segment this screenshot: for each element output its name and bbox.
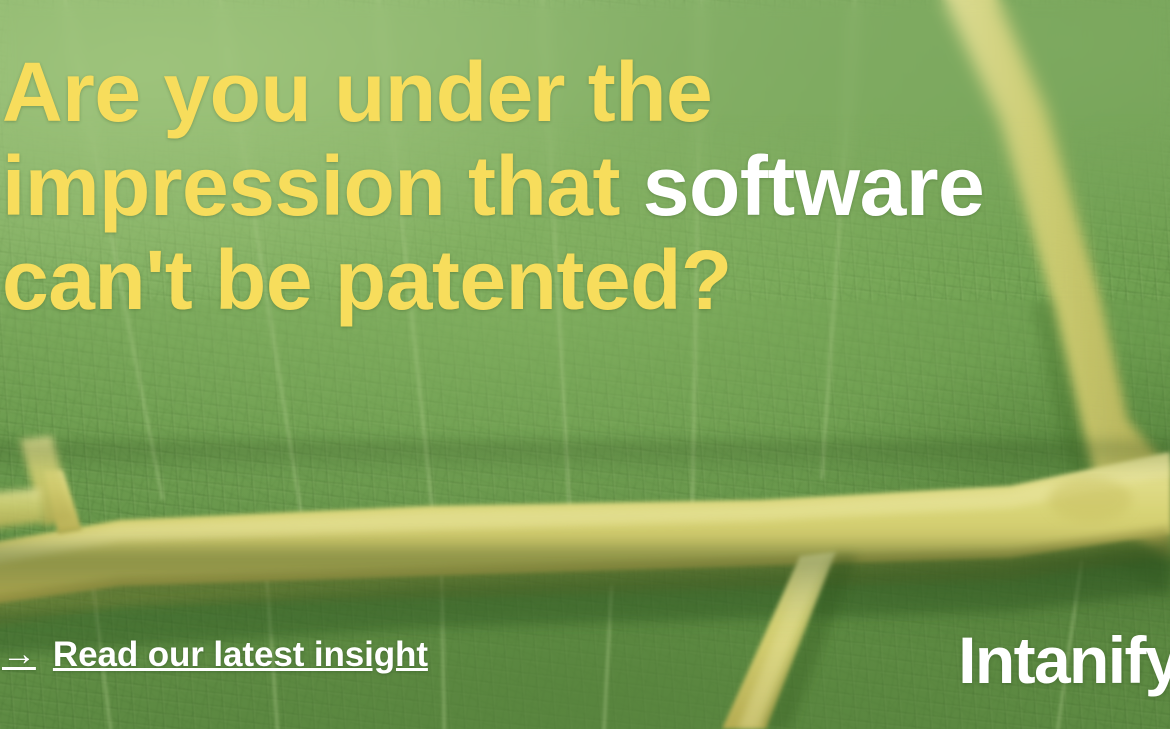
social-card: Are you under the impression that softwa… — [0, 0, 1170, 729]
headline-line-2-prefix: impression that — [2, 139, 643, 233]
midrib-cast-shadow — [0, 547, 1170, 634]
brand-logo: Intanify — [958, 627, 1170, 693]
headline-line-1: Are you under the — [2, 45, 712, 139]
arrow-right-icon: → — [2, 637, 36, 671]
headline-highlight-software: software — [643, 139, 984, 233]
headline: Are you under the impression that softwa… — [2, 45, 1012, 327]
headline-line-3: can't be patented? — [2, 233, 732, 327]
read-insight-link[interactable]: → Read our latest insight — [2, 635, 428, 675]
read-insight-label: Read our latest insight — [53, 635, 428, 675]
